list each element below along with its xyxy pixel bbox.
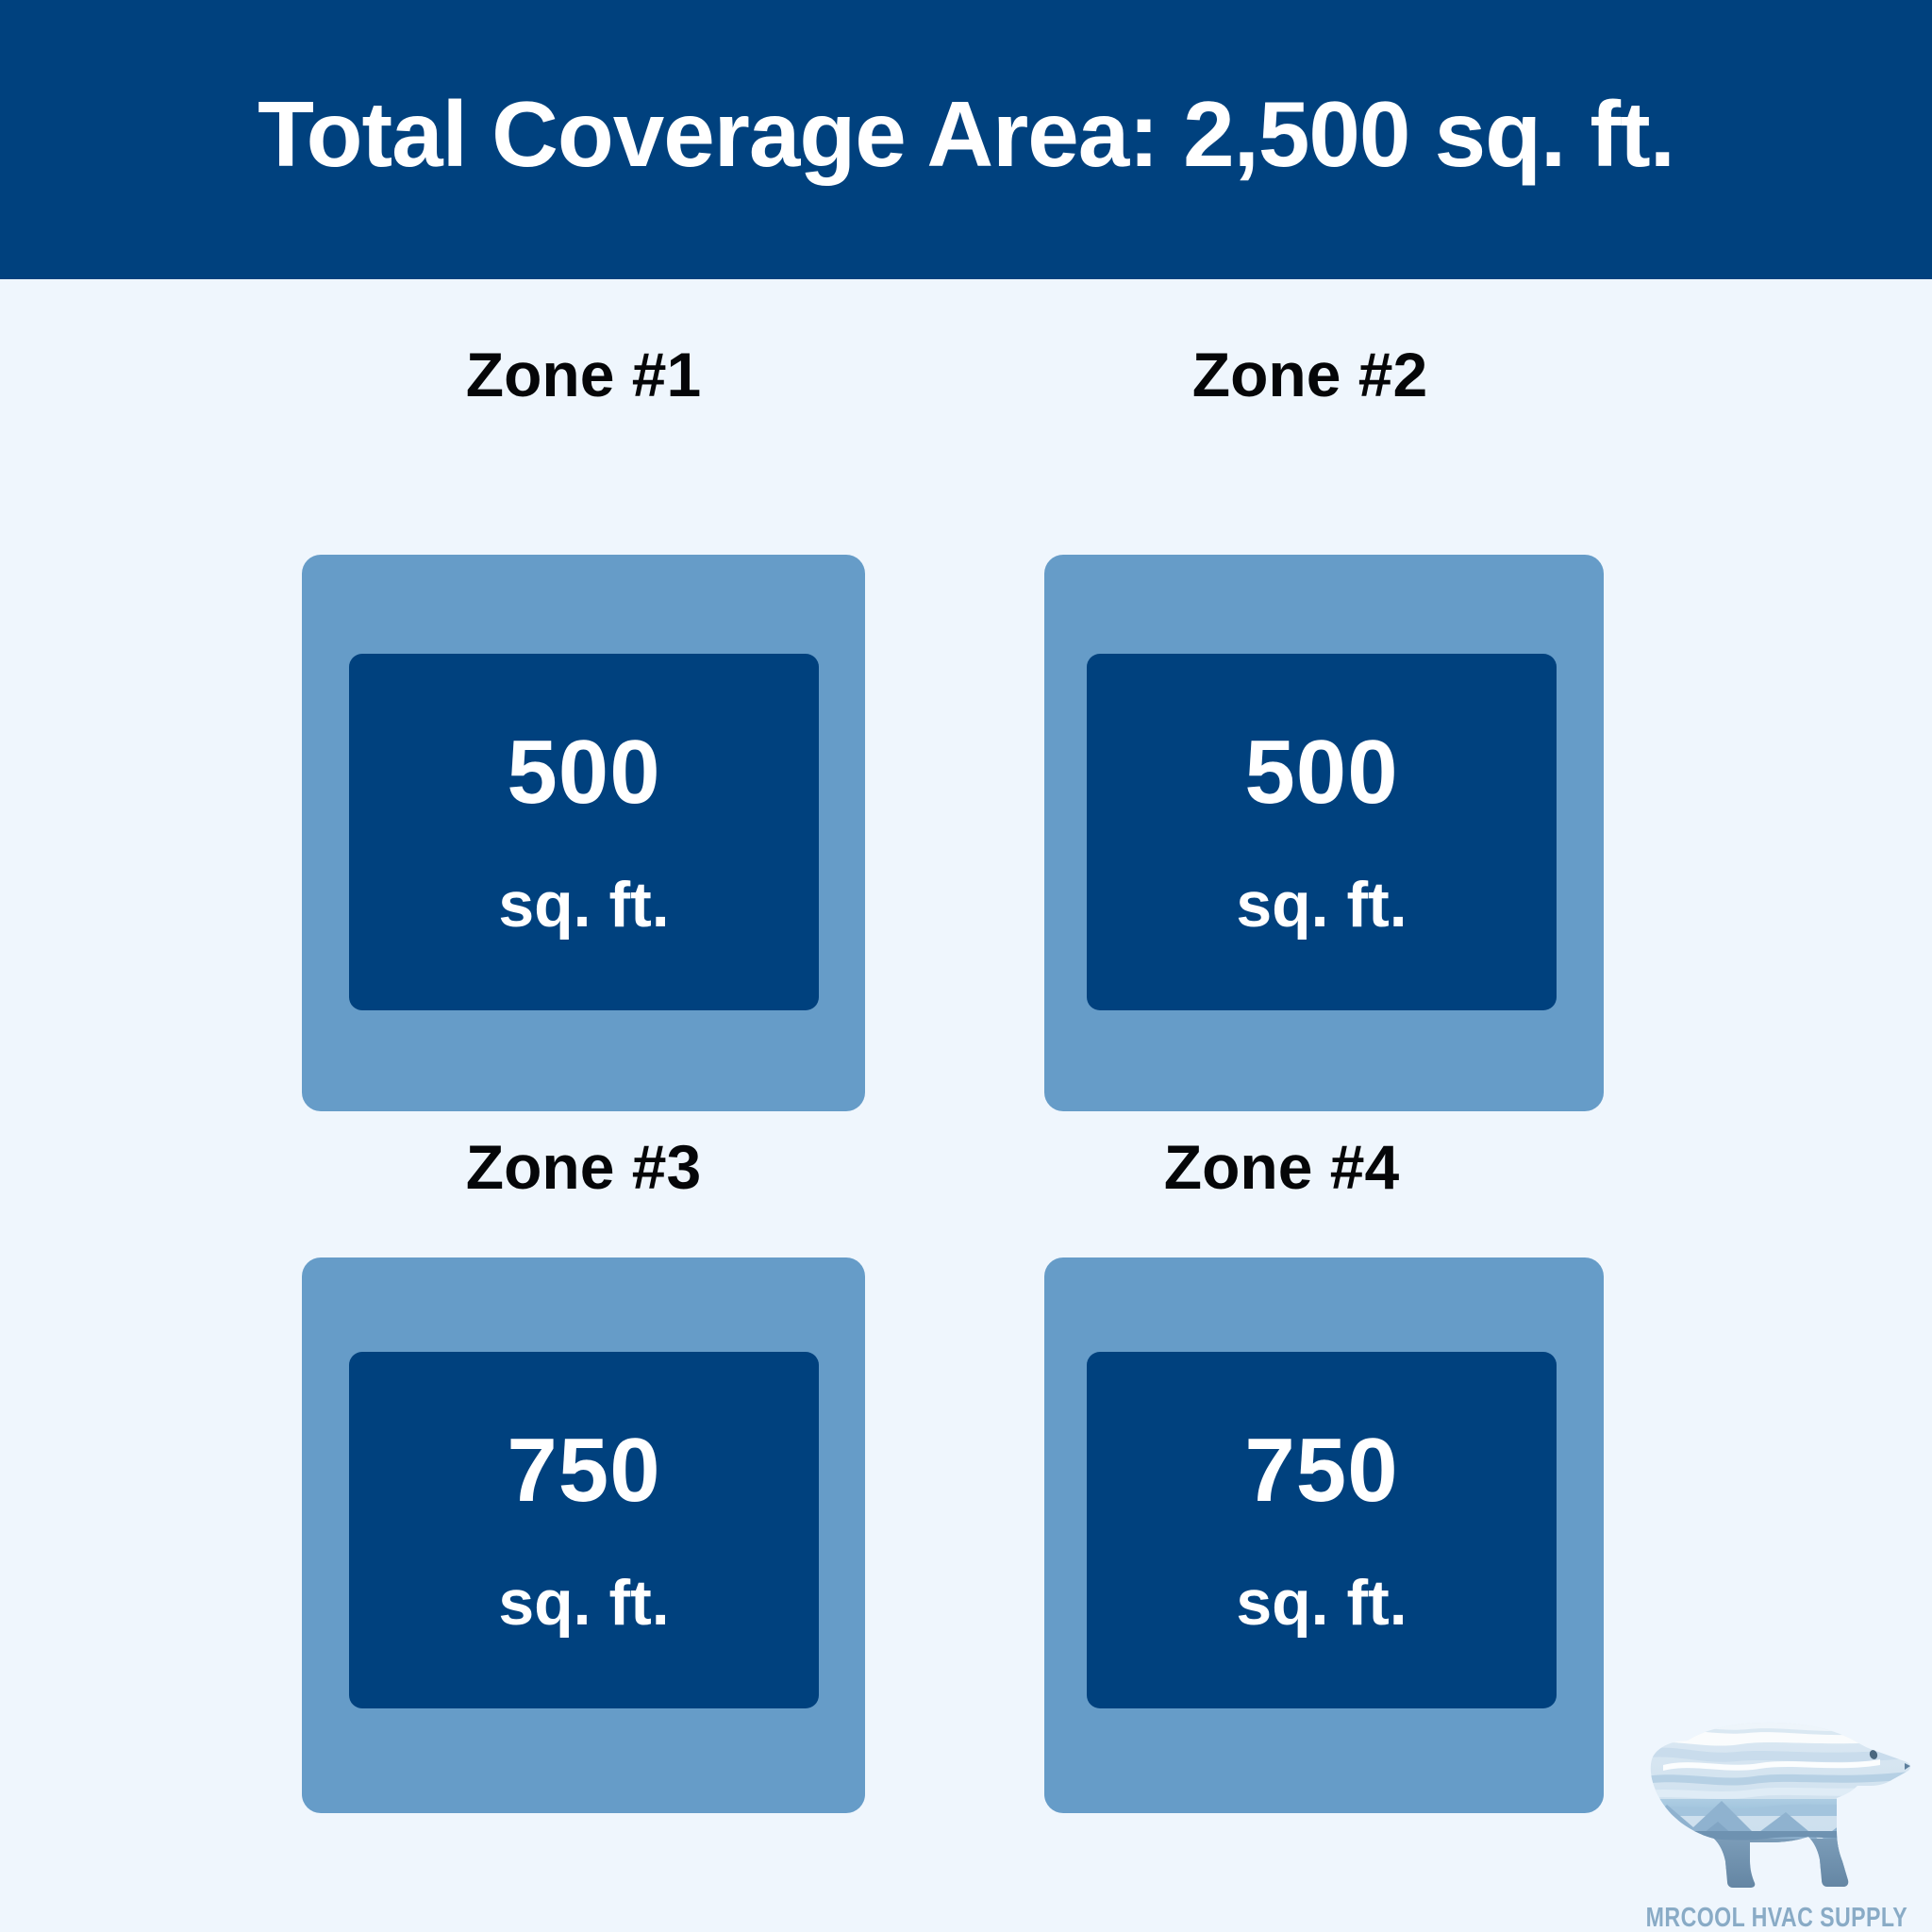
zone-area-value-2: 500 bbox=[1244, 727, 1398, 818]
zone-value-panel-2: 500 sq. ft. bbox=[1087, 654, 1557, 1010]
zone-card-1: 500 sq. ft. bbox=[302, 555, 865, 1111]
polar-bear-icon bbox=[1635, 1718, 1918, 1903]
zone-card-3: 750 sq. ft. bbox=[302, 1257, 865, 1813]
zone-value-panel-1: 500 sq. ft. bbox=[349, 654, 819, 1010]
page-title: Total Coverage Area: 2,500 sq. ft. bbox=[258, 88, 1674, 180]
zone-area-value-4: 750 bbox=[1244, 1425, 1398, 1516]
zone-area-value-3: 750 bbox=[507, 1425, 660, 1516]
zone-card-2: 500 sq. ft. bbox=[1044, 555, 1604, 1111]
brand-logo: MRCOOL HVAC SUPPLY bbox=[1621, 1698, 1932, 1932]
zone-area-unit-4: sq. ft. bbox=[1236, 1571, 1407, 1635]
zone-label-2: Zone #2 bbox=[1028, 343, 1591, 406]
infographic-canvas: Total Coverage Area: 2,500 sq. ft. Zone … bbox=[0, 0, 1932, 1932]
zone-area-unit-1: sq. ft. bbox=[498, 873, 669, 937]
zone-area-value-1: 500 bbox=[507, 727, 660, 818]
zone-area-unit-2: sq. ft. bbox=[1236, 873, 1407, 937]
zone-area-unit-3: sq. ft. bbox=[498, 1571, 669, 1635]
zone-label-4: Zone #4 bbox=[1000, 1136, 1563, 1198]
header-banner: Total Coverage Area: 2,500 sq. ft. bbox=[0, 0, 1932, 279]
zone-value-panel-4: 750 sq. ft. bbox=[1087, 1352, 1557, 1708]
zone-label-3: Zone #3 bbox=[302, 1136, 865, 1198]
logo-wordmark: MRCOOL HVAC SUPPLY bbox=[1645, 1905, 1907, 1932]
zone-label-1: Zone #1 bbox=[302, 343, 865, 406]
zone-value-panel-3: 750 sq. ft. bbox=[349, 1352, 819, 1708]
zone-card-4: 750 sq. ft. bbox=[1044, 1257, 1604, 1813]
